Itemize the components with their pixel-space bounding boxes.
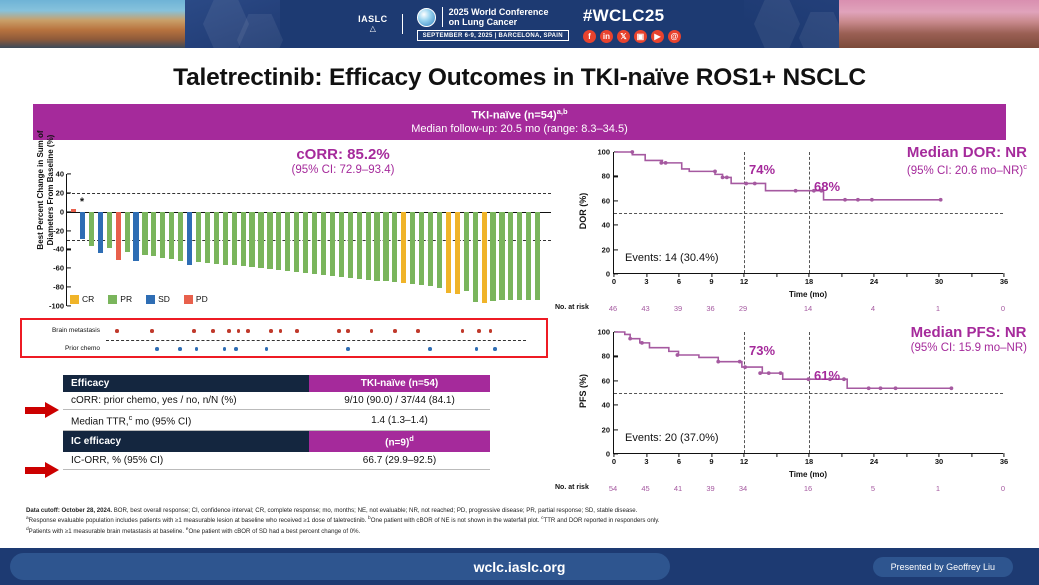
waterfall-bar	[160, 212, 165, 258]
conference-banner: IASLC △ 2025 World Conference on Lung Ca…	[0, 0, 1039, 48]
instagram-icon[interactable]: ▣	[634, 30, 647, 43]
prior-chemo-dot	[178, 347, 182, 351]
waterfall-bar	[223, 212, 228, 265]
waterfall-bar	[428, 212, 433, 286]
km-censor-marker	[630, 150, 634, 154]
waterfall-bar	[196, 212, 201, 262]
km-risk-value: 43	[641, 304, 649, 313]
km-censor-marker	[939, 198, 943, 202]
x-icon[interactable]: 𝕏	[617, 30, 630, 43]
prior-chemo-dot	[475, 347, 479, 351]
legend-label: CR	[82, 294, 94, 304]
median-ttr-value: 1.4 (1.3–1.4)	[309, 410, 490, 431]
facebook-icon[interactable]: f	[583, 30, 596, 43]
km-events-text: Events: 20 (37.0%)	[625, 432, 719, 444]
waterfall-y-tick: -60	[53, 264, 64, 273]
km-risk-value: 39	[674, 304, 682, 313]
km-censor-marker	[856, 198, 860, 202]
conference-dates: SEPTEMBER 6-9, 2025 | BARCELONA, SPAIN	[417, 30, 569, 41]
waterfall-bar	[490, 212, 495, 302]
km-censor-marker	[676, 353, 680, 357]
brain-metastasis-dot	[211, 329, 215, 333]
km-y-tick: 100	[597, 328, 610, 337]
waterfall-y-tick: -40	[53, 245, 64, 254]
km-x-tick: 6	[677, 277, 681, 286]
conference-branding: 2025 World Conference on Lung Cancer SEP…	[417, 7, 569, 41]
prior-chemo-dot	[223, 347, 227, 351]
cohort-header-band: TKI-naïve (n=54)a,b Median follow-up: 20…	[33, 104, 1006, 140]
table-row: IC-ORR, % (95% CI) 66.7 (29.9–92.5)	[63, 452, 490, 470]
waterfall-y-tick: -100	[49, 302, 64, 311]
km-censor-marker	[725, 176, 729, 180]
km-x-tick-mark	[841, 273, 842, 277]
waterfall-bar	[241, 212, 246, 267]
waterfall-bar	[142, 212, 147, 255]
waterfall-bar	[526, 212, 531, 301]
km-y-tick: 20	[602, 425, 610, 434]
km-y-tick: 80	[602, 352, 610, 361]
waterfall-bar	[214, 212, 219, 264]
km-y-tick: 0	[606, 450, 610, 459]
pfs-y-axis-label: PFS (%)	[578, 361, 588, 421]
pfs-kaplan-meier-chart: Median PFS: NR (95% CI: 15.9 mo–NR) PFS …	[565, 322, 1035, 500]
prior-chemo-label: Prior chemo	[24, 341, 100, 357]
patient-characteristics-annotation-box: Brain metastasis Prior chemo	[20, 318, 548, 358]
waterfall-bar	[401, 212, 406, 284]
waterfall-bar	[330, 212, 335, 276]
youtube-icon[interactable]: ▶	[651, 30, 664, 43]
km-y-tick: 40	[602, 221, 610, 230]
km-x-tick: 12	[740, 277, 748, 286]
legend-label: PD	[196, 294, 208, 304]
ic-efficacy-header-value: (n=9)d	[309, 431, 490, 452]
km-y-tick: 60	[602, 196, 610, 205]
threads-icon[interactable]: @	[668, 30, 681, 43]
km-censor-marker	[713, 169, 717, 173]
km-censor-marker	[640, 341, 644, 345]
brain-metastasis-dot	[246, 329, 250, 333]
waterfall-bar	[535, 212, 540, 301]
globe-icon	[417, 8, 436, 27]
conference-title-line2: on Lung Cancer	[449, 17, 549, 27]
waterfall-plot-area: 40200-20-40-60-80-100 *	[66, 174, 551, 306]
legend-item: PD	[184, 294, 208, 304]
waterfall-bar	[303, 212, 308, 273]
km-risk-value: 0	[1001, 304, 1005, 313]
ic-orr-value: 66.7 (29.9–92.5)	[309, 452, 490, 470]
ic-footnote-marker: d	[409, 434, 414, 443]
waterfall-bar	[464, 212, 469, 291]
km-y-tick-mark	[614, 273, 618, 274]
waterfall-y-tick: -80	[53, 283, 64, 292]
waterfall-bar	[419, 212, 424, 286]
legend-swatch	[184, 295, 193, 304]
km-censor-marker	[842, 377, 846, 381]
km-y-tick-mark	[614, 453, 618, 454]
brain-metastasis-dot	[269, 329, 273, 333]
footer-study-pill	[10, 553, 670, 580]
km-censor-marker	[744, 182, 748, 186]
cohort-label: TKI-naïve (n=54)	[471, 110, 556, 122]
waterfall-bar	[357, 212, 362, 279]
waterfall-bar	[178, 212, 183, 261]
linkedin-icon[interactable]: in	[600, 30, 613, 43]
waterfall-bar	[258, 212, 263, 269]
waterfall-bar	[98, 212, 103, 253]
dor-x-axis-label: Time (mo)	[613, 290, 1003, 299]
brain-metastasis-dot	[346, 329, 350, 333]
waterfall-bar	[125, 212, 130, 253]
waterfall-y-tick: -20	[53, 226, 64, 235]
banner-center-content: IASLC △ 2025 World Conference on Lung Ca…	[0, 0, 1039, 48]
waterfall-bar	[508, 212, 513, 301]
waterfall-bar	[276, 212, 281, 270]
km-x-tick: 36	[1000, 457, 1008, 466]
waterfall-bar	[321, 212, 326, 275]
km-x-tick-mark	[776, 273, 777, 277]
km-y-tick: 20	[602, 245, 610, 254]
pfs-x-axis-label: Time (mo)	[613, 470, 1003, 479]
waterfall-bar	[437, 212, 442, 288]
table-subheader-row: IC efficacy (n=9)d	[63, 431, 490, 452]
table-row: Median TTR,c mo (95% CI) 1.4 (1.3–1.4)	[63, 410, 490, 431]
iaslc-logo: IASLC △	[358, 15, 388, 33]
prior-chemo-dot	[428, 347, 432, 351]
corr-prior-chemo-value: 9/10 (90.0) / 37/44 (84.1)	[309, 392, 490, 410]
legend-item: CR	[70, 294, 94, 304]
waterfall-bar	[482, 212, 487, 303]
footnote-line-1: Data cutoff: October 28, 2024. BOR, best…	[26, 506, 1026, 515]
km-risk-value: 29	[739, 304, 747, 313]
km-censor-marker	[867, 386, 871, 390]
km-y-tick: 100	[597, 148, 610, 157]
waterfall-bar	[71, 209, 76, 212]
km-x-tick-mark	[906, 453, 907, 457]
banner-divider	[402, 14, 403, 34]
waterfall-bar	[232, 212, 237, 266]
footer-url[interactable]: wclc.iaslc.org	[474, 559, 566, 575]
km-censor-marker	[870, 198, 874, 202]
prior-chemo-dot	[265, 347, 269, 351]
brain-metastasis-dot	[237, 329, 241, 333]
waterfall-bar	[249, 212, 254, 268]
km-x-tick: 18	[805, 457, 813, 466]
waterfall-bar	[374, 212, 379, 281]
waterfall-y-tick: 20	[56, 188, 64, 197]
brain-metastasis-dot	[337, 329, 341, 333]
km-x-tick: 24	[870, 277, 878, 286]
km-risk-value: 14	[804, 304, 812, 313]
km-x-tick: 0	[612, 457, 616, 466]
brain-metastasis-label: Brain metastasis	[24, 323, 100, 339]
iaslc-logo-mark-icon: △	[370, 25, 376, 33]
waterfall-bar	[392, 212, 397, 283]
waterfall-y-tick: 40	[56, 170, 64, 179]
row-highlight-arrow	[25, 402, 59, 418]
waterfall-star-annotation: *	[80, 196, 84, 208]
km-risk-value: 41	[674, 484, 682, 493]
km-x-tick-mark	[841, 453, 842, 457]
conference-title-line1: 2025 World Conference	[449, 7, 549, 17]
km-events-text: Events: 14 (30.4%)	[625, 252, 719, 264]
waterfall-bar	[339, 212, 344, 277]
km-risk-value: 1	[936, 484, 940, 493]
km-risk-value: 1	[936, 304, 940, 313]
waterfall-bar	[294, 212, 299, 272]
km-censor-marker	[743, 365, 747, 369]
waterfall-bar	[383, 212, 388, 282]
efficacy-header-label: Efficacy	[63, 375, 309, 392]
table-header-row: Efficacy TKI-naïve (n=54)	[63, 375, 490, 392]
waterfall-bar	[348, 212, 353, 278]
ic-efficacy-header-label: IC efficacy	[63, 431, 309, 452]
corr-value: cORR: 85.2%	[193, 146, 493, 163]
brain-metastasis-dot	[461, 329, 465, 333]
waterfall-bar	[133, 212, 138, 261]
banner-divider	[442, 7, 443, 27]
km-censor-marker	[843, 198, 847, 202]
cohort-footnote-marker: a,b	[557, 107, 568, 116]
km-x-tick: 12	[740, 457, 748, 466]
efficacy-header-value: TKI-naïve (n=54)	[309, 375, 490, 392]
km-censor-marker	[767, 371, 771, 375]
km-x-tick: 6	[677, 457, 681, 466]
waterfall-bar	[107, 212, 112, 249]
efficacy-table: Efficacy TKI-naïve (n=54) cORR: prior ch…	[63, 375, 490, 470]
km-censor-marker	[738, 360, 742, 364]
km-censor-marker	[664, 161, 668, 165]
brain-metastasis-row: Brain metastasis	[22, 323, 546, 339]
page-title: Taletrectinib: Efficacy Outcomes in TKI-…	[0, 64, 1039, 92]
footnotes: Data cutoff: October 28, 2024. BOR, best…	[26, 506, 1026, 536]
legend-swatch	[108, 295, 117, 304]
pfs-risk-label: No. at risk	[555, 484, 589, 491]
iaslc-logo-text: IASLC	[358, 15, 388, 24]
waterfall-bar	[80, 212, 85, 239]
waterfall-bar	[89, 212, 94, 246]
median-ttr-label: Median TTR,c mo (95% CI)	[63, 410, 309, 431]
footnote-line-3: dPatients with ≥1 measurable brain metas…	[26, 526, 1026, 536]
km-risk-value: 4	[871, 304, 875, 313]
legend-item: SD	[146, 294, 170, 304]
waterfall-plot-panel: cORR: 85.2% (95% CI: 72.9–93.4) Best Per…	[18, 144, 558, 316]
km-censor-marker	[716, 360, 720, 364]
footnote-line-2: aResponse evaluable population includes …	[26, 515, 1026, 525]
waterfall-bar	[151, 212, 156, 256]
km-risk-value: 16	[804, 484, 812, 493]
km-risk-value: 36	[706, 304, 714, 313]
legend-item: PR	[108, 294, 132, 304]
km-y-tick: 40	[602, 401, 610, 410]
km-y-tick: 80	[602, 172, 610, 181]
legend-swatch	[70, 295, 79, 304]
km-x-tick: 24	[870, 457, 878, 466]
prior-chemo-dot	[155, 347, 159, 351]
conference-hashtag: #WCLC25	[583, 6, 664, 26]
footer-presenter: Presented by Geoffrey Liu	[873, 557, 1013, 577]
corr-headline: cORR: 85.2% (95% CI: 72.9–93.4)	[193, 146, 493, 176]
km-landmark-callout: 73%	[749, 343, 775, 358]
km-x-tick: 36	[1000, 277, 1008, 286]
km-censor-marker	[879, 386, 883, 390]
brain-metastasis-dot	[192, 329, 196, 333]
km-y-tick: 0	[606, 270, 610, 279]
cohort-followup: Median follow-up: 20.5 mo (range: 8.3–34…	[411, 123, 627, 137]
waterfall-bar	[205, 212, 210, 263]
km-risk-value: 39	[706, 484, 714, 493]
waterfall-bar	[499, 212, 504, 301]
km-x-tick-mark	[971, 453, 972, 457]
legend-label: SD	[158, 294, 170, 304]
km-x-tick: 3	[644, 277, 648, 286]
km-x-tick: 3	[644, 457, 648, 466]
waterfall-bar	[455, 212, 460, 294]
km-x-tick: 0	[612, 277, 616, 286]
km-x-tick: 9	[709, 457, 713, 466]
km-x-tick: 30	[935, 277, 943, 286]
footer-bar: Updated Efficacy and Safety of Taletrect…	[0, 548, 1039, 585]
km-risk-value: 46	[609, 304, 617, 313]
brain-metastasis-dot	[477, 329, 481, 333]
km-censor-marker	[753, 182, 757, 186]
km-censor-marker	[950, 386, 954, 390]
waterfall-bar	[410, 212, 415, 285]
dor-risk-label: No. at risk	[555, 304, 589, 311]
km-censor-marker	[721, 176, 725, 180]
legend-label: PR	[120, 294, 132, 304]
social-links-row[interactable]: f in 𝕏 ▣ ▶ @	[583, 30, 681, 43]
km-risk-value: 45	[641, 484, 649, 493]
brain-metastasis-dot	[489, 329, 493, 333]
km-censor-marker	[659, 161, 663, 165]
km-censor-marker	[628, 337, 632, 341]
km-risk-value: 0	[1001, 484, 1005, 493]
km-landmark-callout: 74%	[749, 162, 775, 177]
km-x-tick-mark	[971, 273, 972, 277]
km-x-tick-mark	[776, 453, 777, 457]
brain-metastasis-dot	[279, 329, 283, 333]
prior-chemo-row: Prior chemo	[22, 341, 546, 357]
prior-chemo-dot-track	[106, 341, 534, 357]
km-risk-value: 54	[609, 484, 617, 493]
waterfall-bar	[312, 212, 317, 274]
brain-metastasis-dot	[227, 329, 231, 333]
km-x-tick: 9	[709, 277, 713, 286]
brain-metastasis-dot	[393, 329, 397, 333]
km-censor-marker	[794, 189, 798, 193]
waterfall-bar	[366, 212, 371, 280]
prior-chemo-dot	[195, 347, 199, 351]
brain-metastasis-dot	[115, 329, 119, 333]
waterfall-bar	[187, 212, 192, 266]
waterfall-y-tick: 0	[60, 207, 64, 216]
waterfall-legend: CRPRSDPD	[70, 294, 208, 304]
ic-orr-label: IC-ORR, % (95% CI)	[63, 452, 309, 470]
brain-metastasis-dot-track	[106, 323, 534, 339]
waterfall-bar	[446, 212, 451, 293]
prior-chemo-dot	[493, 347, 497, 351]
dor-kaplan-meier-chart: Median DOR: NR (95% CI: 20.6 mo–NR)c DOR…	[565, 142, 1035, 320]
prior-chemo-dot	[346, 347, 350, 351]
km-censor-marker	[894, 386, 898, 390]
km-x-tick: 18	[805, 277, 813, 286]
km-censor-marker	[779, 371, 783, 375]
table-row: cORR: prior chemo, yes / no, n/N (%) 9/1…	[63, 392, 490, 410]
row-highlight-arrow	[25, 462, 59, 478]
waterfall-bar	[473, 212, 478, 303]
brain-metastasis-dot	[150, 329, 154, 333]
km-risk-value: 34	[739, 484, 747, 493]
legend-swatch	[146, 295, 155, 304]
prior-chemo-dot	[234, 347, 238, 351]
waterfall-bar	[285, 212, 290, 271]
waterfall-bar	[267, 212, 272, 270]
km-risk-value: 5	[871, 484, 875, 493]
waterfall-bars: *	[67, 174, 551, 306]
km-censor-marker	[807, 377, 811, 381]
km-landmark-callout: 61%	[814, 368, 840, 383]
km-x-tick-mark	[906, 273, 907, 277]
brain-metastasis-dot	[416, 329, 420, 333]
km-landmark-callout: 68%	[814, 179, 840, 194]
waterfall-bar	[517, 212, 522, 301]
km-y-tick: 60	[602, 376, 610, 385]
brain-metastasis-dot	[295, 329, 299, 333]
corr-prior-chemo-label: cORR: prior chemo, yes / no, n/N (%)	[63, 392, 309, 410]
km-x-tick: 30	[935, 457, 943, 466]
brain-metastasis-dot	[370, 329, 374, 333]
dor-y-axis-label: DOR (%)	[578, 181, 588, 241]
hashtag-block: #WCLC25 f in 𝕏 ▣ ▶ @	[583, 6, 681, 43]
waterfall-bar	[169, 212, 174, 259]
waterfall-bar	[116, 212, 121, 260]
km-censor-marker	[758, 371, 762, 375]
